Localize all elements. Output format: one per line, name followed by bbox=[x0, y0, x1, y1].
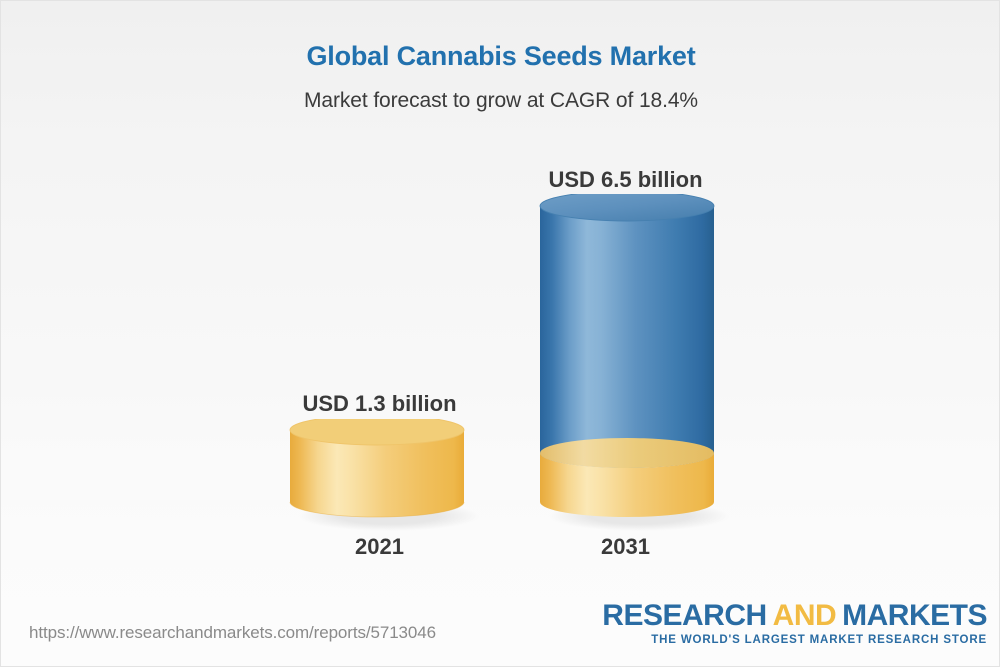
logo-word-research: RESEARCH bbox=[602, 599, 766, 632]
infographic-canvas: Global Cannabis Seeds Market Market fore… bbox=[0, 0, 1000, 667]
logo-word-and: AND bbox=[773, 599, 837, 632]
category-label-2021: 2021 bbox=[277, 534, 482, 560]
logo-tagline: THE WORLD'S LARGEST MARKET RESEARCH STOR… bbox=[602, 635, 987, 647]
category-label-2031: 2031 bbox=[523, 534, 728, 560]
bar-cylinder-2031 bbox=[527, 194, 737, 535]
logo-word-markets: MARKETS bbox=[842, 599, 987, 632]
chart-plot-area: USD 1.3 billion USD 6.5 billion 2021 203… bbox=[1, 1, 1000, 601]
research-and-markets-logo[interactable]: RESEARCHANDMARKETS THE WORLD'S LARGEST M… bbox=[602, 601, 987, 647]
value-label-2031: USD 6.5 billion bbox=[523, 167, 728, 193]
logo-wordmark: RESEARCHANDMARKETS bbox=[602, 601, 987, 631]
bar-cylinder-2021 bbox=[277, 419, 487, 535]
value-label-2021: USD 1.3 billion bbox=[277, 391, 482, 417]
report-url[interactable]: https://www.researchandmarkets.com/repor… bbox=[29, 623, 436, 643]
